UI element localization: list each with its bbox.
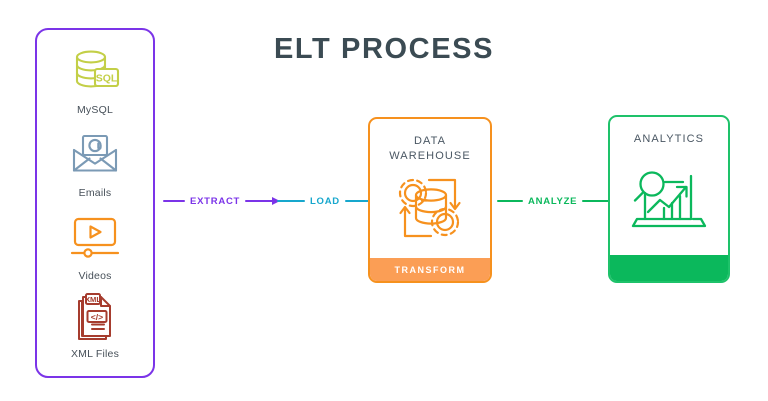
data-sources-panel: SQL MySQL Emails [35,28,155,378]
arrow-line [245,200,273,202]
arrow-analyze: ANALYZE [497,192,617,210]
source-item-xml-files[interactable]: XML </> XML Files [37,288,153,361]
stage-analytics[interactable]: ANALYTICS [608,115,730,283]
source-label: MySQL [37,104,153,117]
database-sql-icon: SQL [37,44,153,100]
stage-title: ANALYTICS [610,117,728,147]
source-label: Emails [37,187,153,200]
arrow-line [277,200,305,202]
source-label: XML Files [37,348,153,361]
gears-database-transform-icon [370,163,490,258]
xml-badge-text: XML [85,295,101,304]
stage-data-warehouse[interactable]: DATA WAREHOUSE [368,117,492,283]
analytics-laptop-chart-icon [610,147,728,256]
stage-title: DATA WAREHOUSE [370,119,490,163]
code-brackets-text: </> [91,312,103,322]
arrow-line [582,200,610,202]
sql-badge-text: SQL [96,73,118,85]
arrow-label: LOAD [310,196,340,207]
arrow-load: LOAD [277,192,378,210]
video-player-icon [37,210,153,266]
source-item-videos[interactable]: Videos [37,210,153,283]
arrow-line [497,200,523,202]
xml-file-icon: XML </> [37,288,153,344]
stage-footer-analytics [610,255,728,281]
arrow-label: ANALYZE [528,196,577,207]
arrow-label: EXTRACT [190,196,240,207]
elt-process-diagram: ELT PROCESS SQL MySQL [0,0,768,401]
source-item-mysql[interactable]: SQL MySQL [37,44,153,117]
source-item-emails[interactable]: Emails [37,127,153,200]
source-label: Videos [37,270,153,283]
arrow-line [163,200,185,202]
envelope-at-icon [37,127,153,183]
arrow-extract: EXTRACT [163,192,280,210]
stage-footer-transform: TRANSFORM [370,258,490,281]
